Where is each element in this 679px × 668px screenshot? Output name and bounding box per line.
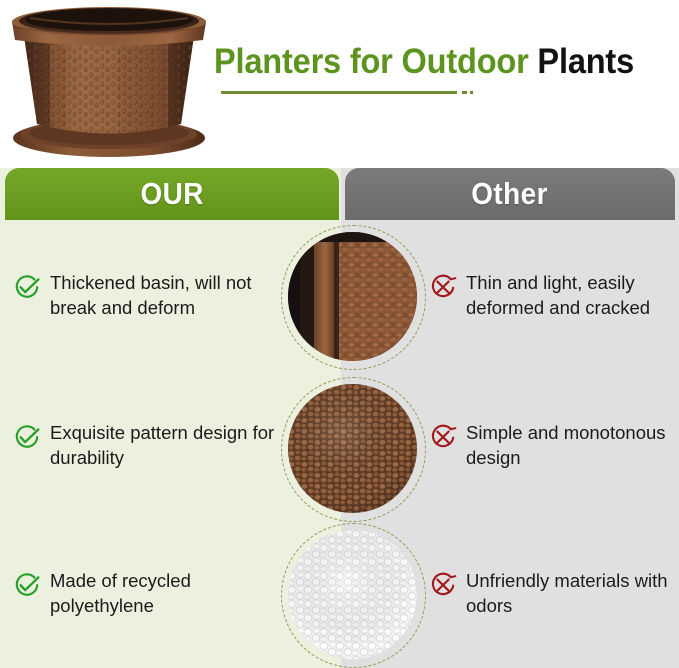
feature-text: Unfriendly materials with odors [466,568,678,618]
title-green-part: Planters for Outdoor [214,42,529,81]
title-underline-dash-1 [462,91,467,94]
circle-photo-pellets [288,530,417,659]
feature-text: Made of recycled polyethylene [50,568,282,618]
circle-photo-thick-rim [288,232,417,361]
page-title: Planters for Outdoor Plants [214,40,674,110]
title-black-part: Plants [537,42,634,81]
x-circle-icon [428,570,458,600]
column-our-header-label: OUR [140,176,203,212]
check-circle-icon [12,422,42,452]
feature-text: Exquisite pattern design for durability [50,420,282,470]
x-circle-icon [428,422,458,452]
feature-text: Thickened basin, will not break and defo… [50,270,282,320]
feature-text: Simple and monotonous design [466,420,678,470]
title-underline-dash-2 [470,91,473,94]
circle-photo-pattern [288,384,417,513]
hero-product-image [0,0,218,163]
check-circle-icon [12,570,42,600]
feature-text: Thin and light, easily deformed and crac… [466,270,678,320]
column-other-header: Other [345,168,675,220]
check-circle-icon [12,272,42,302]
column-other-header-label: Other [472,176,549,212]
infographic-page: Planters for Outdoor Plants OUR [0,0,679,668]
column-our-header: OUR [5,168,339,220]
title-underline [221,91,457,94]
x-circle-icon [428,272,458,302]
